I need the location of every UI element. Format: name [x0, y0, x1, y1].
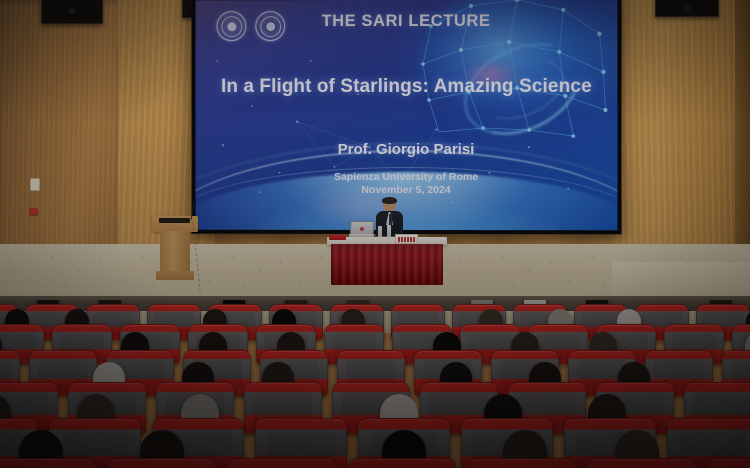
- nameplate: [395, 234, 418, 244]
- auditorium-seat[interactable]: [0, 458, 96, 468]
- ceiling-speaker-icon: [655, 0, 719, 17]
- lectern: [152, 216, 198, 280]
- auditorium-seat[interactable]: [708, 458, 750, 468]
- slide-affiliation: Sapienza University of Rome: [196, 171, 618, 184]
- slide-speaker-name: Prof. Giorgio Parisi: [196, 141, 618, 158]
- table-skirt: [331, 244, 443, 285]
- auditorium-seat[interactable]: [228, 458, 336, 468]
- presenter-tie: [389, 214, 392, 225]
- ceiling-speaker-icon: [41, 0, 103, 24]
- water-bottle-icon: [387, 225, 391, 239]
- light-switch-icon[interactable]: [30, 178, 40, 191]
- red-book: [329, 235, 346, 240]
- laptop-icon: [349, 221, 373, 238]
- auditorium-seat[interactable]: [588, 458, 696, 468]
- projection-screen-frame: THE SARI LECTURE In a Flight of Starling…: [192, 0, 622, 234]
- lectern-surface-panel: [159, 218, 190, 223]
- lectern-base: [156, 271, 194, 280]
- skirt-shading: [331, 244, 443, 285]
- speaker-table: [327, 229, 447, 285]
- slide-date: November 5, 2024: [196, 184, 618, 197]
- auditorium-seat[interactable]: [348, 458, 456, 468]
- lectern-column: [160, 231, 190, 273]
- auditorium-seat[interactable]: [108, 458, 216, 468]
- presenter-hair: [382, 197, 397, 204]
- audience-area: [0, 300, 750, 468]
- projection-screen: THE SARI LECTURE In a Flight of Starling…: [196, 0, 618, 230]
- auditorium-lecture-scene: THE SARI LECTURE In a Flight of Starling…: [0, 0, 750, 468]
- speaker-cone-icon: [684, 5, 690, 11]
- slide-header-text: THE SARI LECTURE: [196, 12, 618, 31]
- water-bottle-icon: [378, 226, 382, 239]
- speaker-cone-icon: [69, 8, 75, 14]
- auditorium-seat[interactable]: [468, 458, 576, 468]
- laptop-logo-icon: [360, 227, 364, 231]
- slide-title-text: In a Flight of Starlings: Amazing Scienc…: [196, 76, 618, 98]
- fire-alarm-icon: [29, 208, 38, 215]
- nameplate-text: [398, 237, 415, 242]
